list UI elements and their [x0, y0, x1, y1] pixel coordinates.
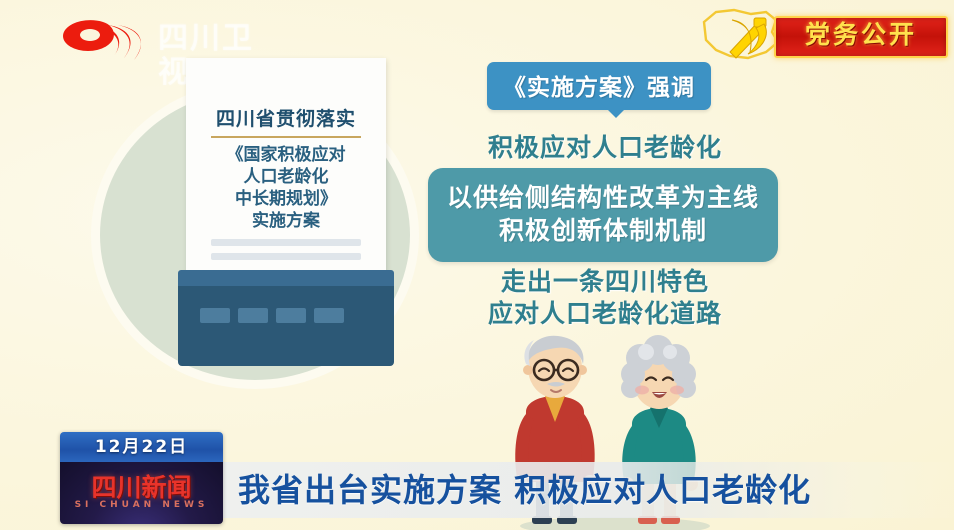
- tag-pointer-icon: [600, 102, 632, 118]
- party-badge-plaque: 党务公开: [774, 16, 948, 58]
- document-subtitle-line: 中长期规划》: [186, 188, 386, 210]
- highlight-line-bottom-2: 应对人口老龄化道路: [420, 294, 790, 330]
- tray-slot: [238, 308, 268, 323]
- news-brand-en: SI CHUAN NEWS: [60, 500, 223, 510]
- tray-slot: [314, 308, 344, 323]
- document-text-line: [211, 253, 361, 260]
- document-title: 四川省贯彻落实: [186, 104, 386, 131]
- document-subtitle-line: 人口老龄化: [186, 166, 386, 188]
- party-affairs-badge: 党务公开: [696, 6, 946, 64]
- broadcast-date-bar: 12月22日: [60, 432, 223, 462]
- tray-slot: [276, 308, 306, 323]
- callout-line: 积极创新体制机制: [428, 214, 778, 247]
- highlight-line-bottom-1: 走出一条四川特色: [420, 262, 790, 298]
- document-paper: 四川省贯彻落实 《国家积极应对 人口老龄化 中长期规划》 实施方案: [186, 58, 386, 288]
- highlight-line-top: 积极应对人口老龄化: [420, 128, 790, 164]
- highlight-callout-box: 以供给侧结构性改革为主线 积极创新体制机制: [428, 168, 778, 262]
- document-tray: [178, 286, 394, 366]
- document-text-line: [211, 239, 361, 246]
- callout-line: 以供给侧结构性改革为主线: [428, 181, 778, 214]
- party-badge-label: 党务公开: [776, 18, 946, 52]
- document-title-rule: [211, 136, 361, 138]
- implementation-plan-tag-label: 《实施方案》强调: [503, 75, 695, 101]
- document-illustration: 四川省贯彻落实 《国家积极应对 人口老龄化 中长期规划》 实施方案: [178, 58, 398, 358]
- tray-slot: [200, 308, 230, 323]
- hammer-sickle-emblem-icon: [720, 12, 776, 62]
- document-subtitle-line: 《国家积极应对: [186, 144, 386, 166]
- news-program-logo: 12月22日 四川新闻 SI CHUAN NEWS: [60, 432, 223, 524]
- news-brand-cn: 四川新闻: [60, 468, 223, 504]
- document-subtitle: 《国家积极应对 人口老龄化 中长期规划》 实施方案: [186, 144, 386, 232]
- broadcast-frame: 四川卫视 党务公开 四川省贯彻落实: [0, 0, 954, 530]
- document-subtitle-line: 实施方案: [186, 210, 386, 232]
- sctv-swoosh-logo-icon: [58, 16, 150, 64]
- headline-text: 我省出台实施方案 积极应对人口老龄化: [238, 468, 938, 512]
- implementation-plan-tag: 《实施方案》强调: [487, 62, 711, 110]
- news-brand-block: 四川新闻 SI CHUAN NEWS: [60, 462, 223, 524]
- broadcast-date: 12月22日: [60, 432, 223, 462]
